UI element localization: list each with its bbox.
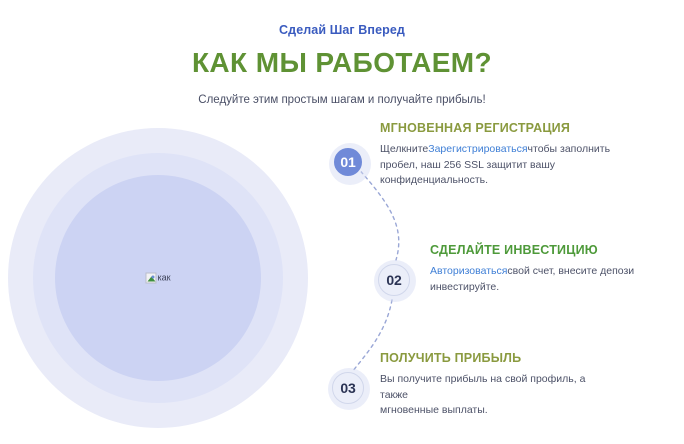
step-text-line2: пробел, наш 256 SSL защитит вашу	[380, 159, 555, 171]
step-content-2: СДЕЛАЙТЕ ИНВЕСТИЦИЮ Авторизоватьсясвой с…	[430, 242, 648, 295]
step-text-2: Авторизоватьсясвой счет, внесите депозии…	[430, 264, 648, 295]
step-number-badge-2: 02	[378, 264, 410, 296]
step-text-line2: мгновенные выплаты.	[380, 404, 488, 416]
step-item-2: 02 СДЕЛАЙТЕ ИНВЕСТИЦИЮ Авторизоватьсясво…	[378, 242, 684, 296]
step-text-1: ЩелкнитеЗарегистрироватьсячтобы заполнит…	[380, 142, 610, 189]
page-header: Сделай Шаг Вперед КАК МЫ РАБОТАЕМ? Следу…	[0, 22, 684, 108]
step-text-line2: инвестируйте.	[430, 281, 499, 293]
step-number-label: 01	[340, 154, 355, 170]
step-title-2: СДЕЛАЙТЕ ИНВЕСТИЦИЮ	[430, 242, 648, 258]
steps-list: 01 МГНОВЕННАЯ РЕГИСТРАЦИЯ ЩелкнитеЗареги…	[330, 118, 684, 428]
step-number-badge-3: 03	[332, 372, 364, 404]
step-text-suffix: чтобы заполнить	[528, 143, 611, 155]
step-number-label: 02	[386, 272, 401, 288]
step-content-3: ПОЛУЧИТЬ ПРИБЫЛЬ Вы получите прибыль на …	[380, 350, 612, 419]
step-number-badge-1: 01	[332, 146, 364, 178]
step-number-label: 03	[340, 380, 355, 396]
page-title: КАК МЫ РАБОТАЕМ?	[0, 46, 684, 80]
broken-image-placeholder: как	[145, 273, 170, 284]
step-item-3: 03 ПОЛУЧИТЬ ПРИБЫЛЬ Вы получите прибыль …	[332, 350, 612, 419]
illustration-panel: как	[8, 128, 308, 428]
step-content-1: МГНОВЕННАЯ РЕГИСТРАЦИЯ ЩелкнитеЗарегистр…	[380, 120, 610, 189]
broken-image-icon	[145, 273, 156, 284]
step-item-1: 01 МГНОВЕННАЯ РЕГИСТРАЦИЯ ЩелкнитеЗареги…	[332, 120, 612, 189]
step-title-3: ПОЛУЧИТЬ ПРИБЫЛЬ	[380, 350, 612, 366]
header-subtitle: Следуйте этим простым шагам и получайте …	[0, 92, 684, 108]
step-title-1: МГНОВЕННАЯ РЕГИСТРАЦИЯ	[380, 120, 610, 136]
broken-image-alt-text: как	[157, 273, 170, 284]
step-text-3: Вы получите прибыль на свой профиль, а т…	[380, 372, 612, 419]
step-text-line3: конфиденциальность.	[380, 174, 488, 186]
header-eyebrow: Сделай Шаг Вперед	[0, 22, 684, 38]
step-text-suffix: Вы получите прибыль на свой профиль, а т…	[380, 373, 585, 401]
step-text-prefix: Щелкните	[380, 143, 428, 155]
login-link[interactable]: Авторизоваться	[430, 265, 507, 277]
step-text-suffix: свой счет, внесите депози	[507, 265, 634, 277]
register-link[interactable]: Зарегистрироваться	[428, 143, 527, 155]
